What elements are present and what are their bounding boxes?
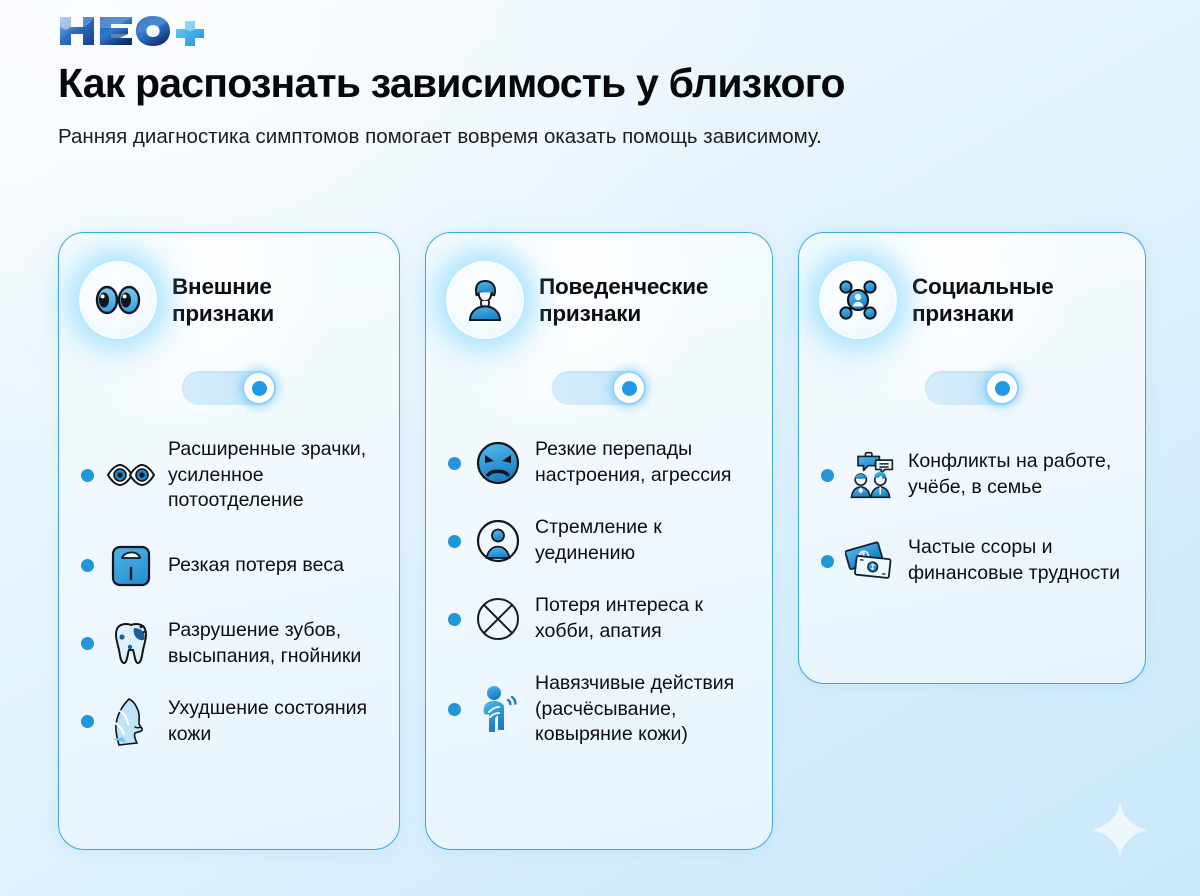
page-header: Как распознать зависимость у близкого Ра… xyxy=(0,0,1200,153)
bullet-dot xyxy=(821,555,834,568)
bullet-dot xyxy=(81,715,94,728)
card-external-signs: Внешние признаки xyxy=(58,232,400,850)
list-item-text: Разрушение зубов, высыпания, гнойники xyxy=(168,618,377,669)
bullet-dot xyxy=(448,535,461,548)
card-social-signs: Социальные признаки xyxy=(798,232,1146,684)
list-item: Навязчивые действия (расчёсывание, ковыр… xyxy=(448,671,750,748)
crossed-circle-icon xyxy=(472,593,524,645)
toggle-external-signs[interactable] xyxy=(182,371,276,405)
card-title: Внешние признаки xyxy=(172,273,377,328)
bullet-dot xyxy=(81,559,94,572)
list-item-text: Расширенные зрачки, усиленное потоотделе… xyxy=(168,437,377,514)
signs-list: Конфликты на работе, учёбе, в семье xyxy=(821,449,1123,587)
bullet-dot xyxy=(448,613,461,626)
signs-list: Расширенные зрачки, усиленное потоотделе… xyxy=(81,437,377,748)
bullet-dot xyxy=(448,457,461,470)
list-item: Потеря интереса к хобби, апатия xyxy=(448,593,750,645)
list-item: Расширенные зрачки, усиленное потоотделе… xyxy=(81,437,377,514)
dilated-pupils-icon xyxy=(105,449,157,501)
face-profile-icon xyxy=(105,696,157,748)
list-item-text: Резкая потеря веса xyxy=(168,553,344,579)
list-item: Стремление к уединению xyxy=(448,515,750,567)
page-title: Как распознать зависимость у близкого xyxy=(58,62,1200,105)
bullet-dot xyxy=(821,469,834,482)
list-item-text: Конфликты на работе, учёбе, в семье xyxy=(908,449,1123,500)
toggle-knob xyxy=(614,373,644,403)
card-title: Поведенческие признаки xyxy=(539,273,750,328)
weight-scale-icon xyxy=(105,540,157,592)
person-avatar-icon xyxy=(448,263,522,337)
cards-row: Внешние признаки xyxy=(58,232,1146,850)
neo-plus-logo-icon xyxy=(58,14,208,48)
toggle-social-signs[interactable] xyxy=(925,371,1019,405)
list-item: Резкие перепады настроения, агрессия xyxy=(448,437,750,489)
card-behavioral-signs: Поведенческие признаки xyxy=(425,232,773,850)
card-header: Социальные признаки xyxy=(821,263,1123,337)
list-item-text: Ухудшение состояния кожи xyxy=(168,696,377,747)
eyes-icon xyxy=(81,263,155,337)
list-item-text: Стремление к уединению xyxy=(535,515,750,566)
four-point-star-icon xyxy=(1092,802,1148,858)
list-item: Конфликты на работе, учёбе, в семье xyxy=(821,449,1123,501)
list-item-text: Частые ссоры и финансовые трудности xyxy=(908,535,1123,586)
decayed-tooth-icon xyxy=(105,618,157,670)
toggle-wrap xyxy=(821,371,1123,405)
list-item-text: Потеря интереса к хобби, апатия xyxy=(535,593,750,644)
lonely-person-icon xyxy=(472,515,524,567)
conflict-people-icon xyxy=(845,449,897,501)
scratching-person-icon xyxy=(472,683,524,735)
bullet-dot xyxy=(81,469,94,482)
angry-face-icon xyxy=(472,437,524,489)
toggle-wrap xyxy=(448,371,750,405)
list-item-text: Резкие перепады настроения, агрессия xyxy=(535,437,750,488)
list-item: Ухудшение состояния кожи xyxy=(81,696,377,748)
list-item-text: Навязчивые действия (расчёсывание, ковыр… xyxy=(535,671,750,748)
toggle-wrap xyxy=(81,371,377,405)
brand-logo xyxy=(58,14,1200,48)
list-item: Разрушение зубов, высыпания, гнойники xyxy=(81,618,377,670)
card-title: Социальные признаки xyxy=(912,273,1123,328)
toggle-behavioral-signs[interactable] xyxy=(552,371,646,405)
bullet-dot xyxy=(448,703,461,716)
card-header: Внешние признаки xyxy=(81,263,377,337)
list-item: Частые ссоры и финансовые трудности xyxy=(821,535,1123,587)
bullet-dot xyxy=(81,637,94,650)
banknotes-icon xyxy=(845,535,897,587)
card-header: Поведенческие признаки xyxy=(448,263,750,337)
signs-list: Резкие перепады настроения, агрессия Стр… xyxy=(448,437,750,748)
page-subtitle: Ранняя диагностика симптомов помогает во… xyxy=(58,121,958,152)
social-network-icon xyxy=(821,263,895,337)
list-item: Резкая потеря веса xyxy=(81,540,377,592)
toggle-knob xyxy=(987,373,1017,403)
toggle-knob xyxy=(244,373,274,403)
